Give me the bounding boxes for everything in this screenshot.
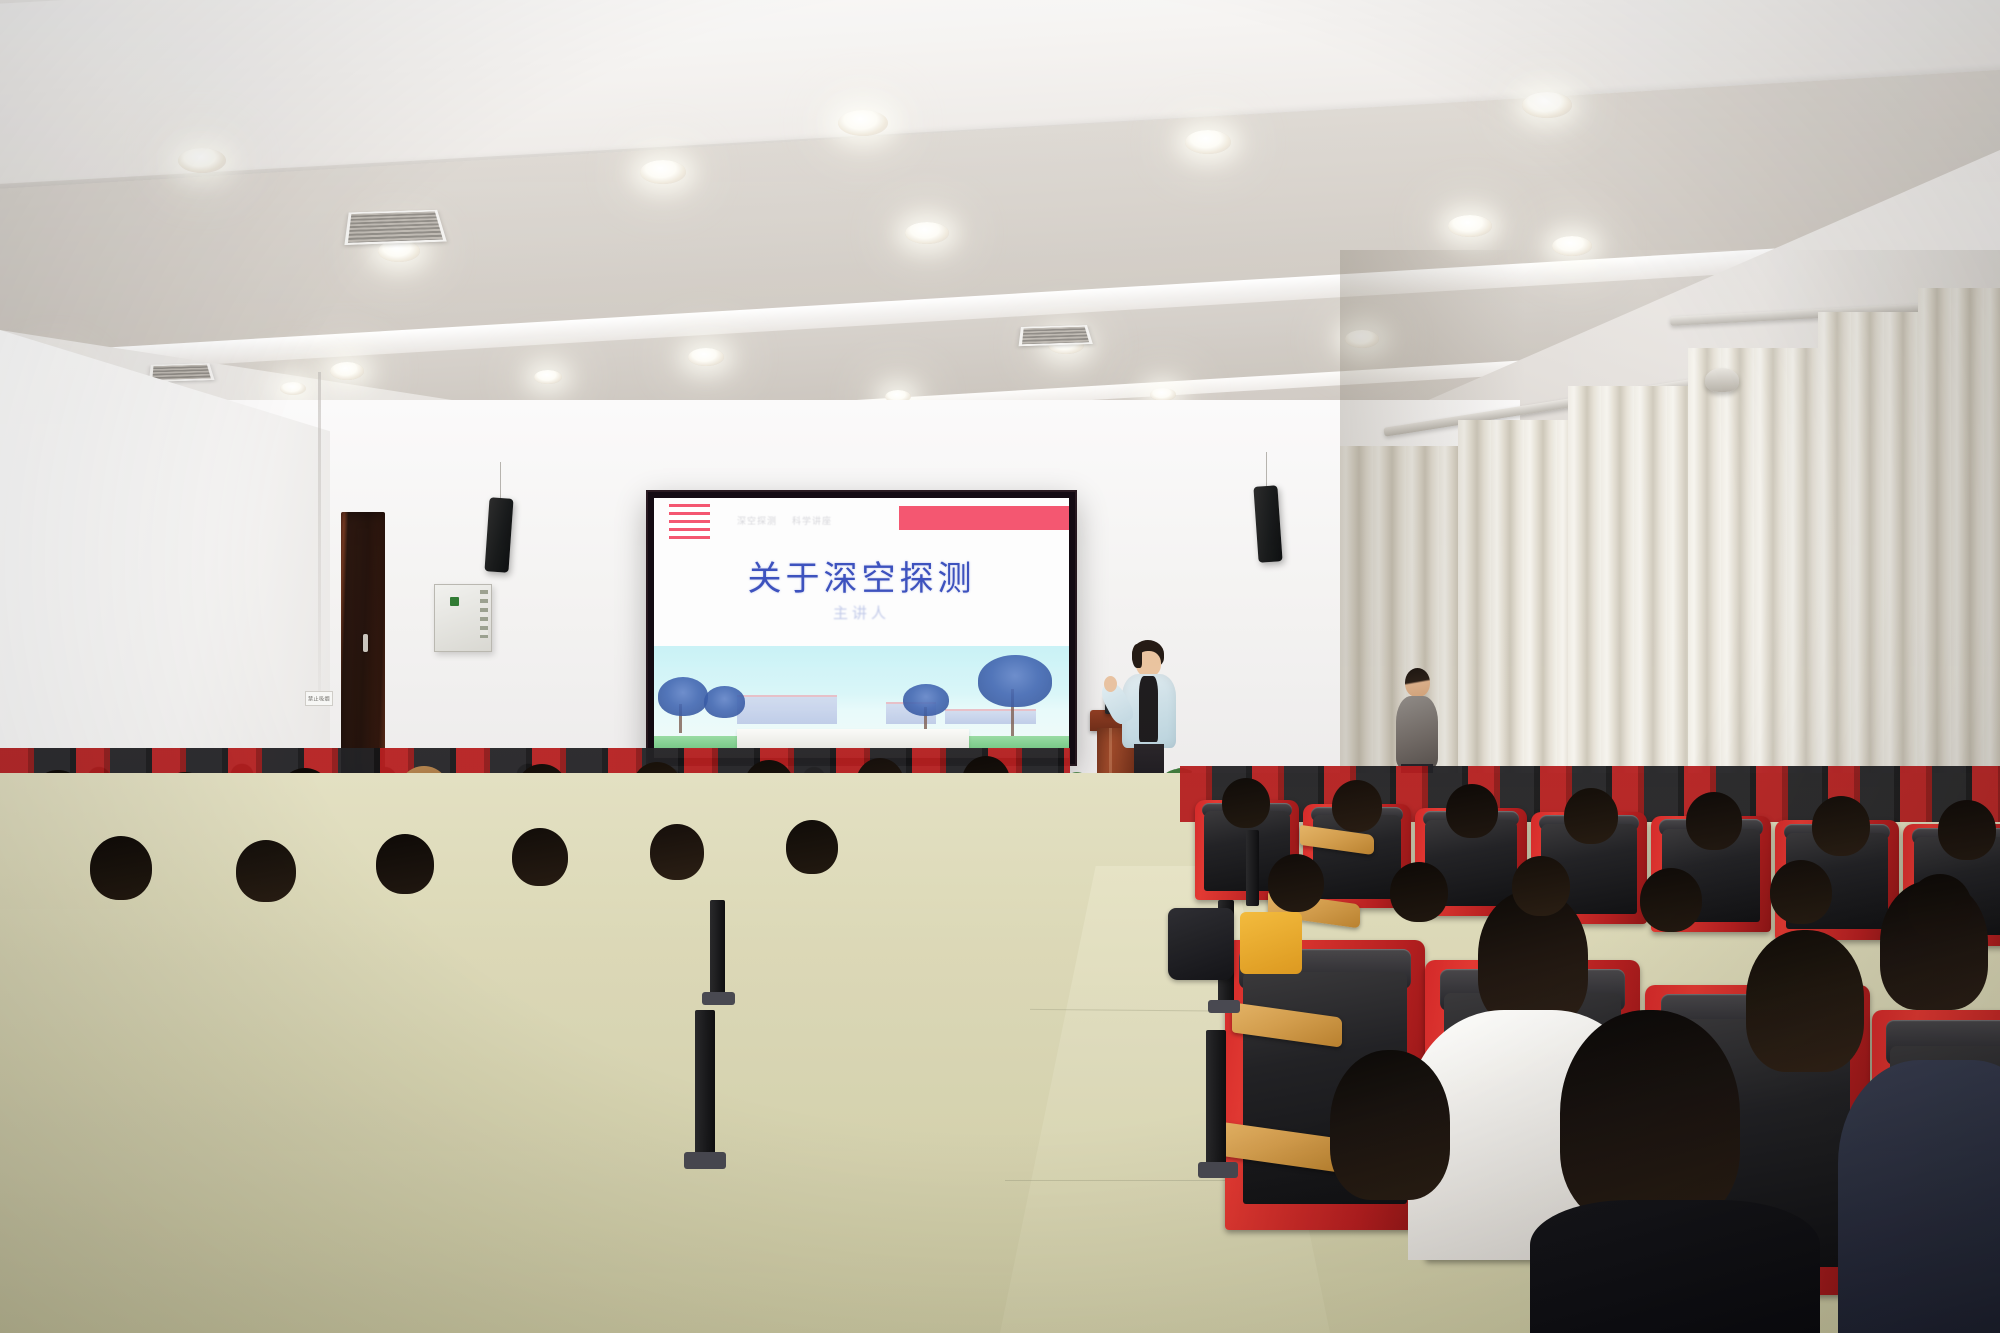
- wall-speaker-left: [484, 497, 513, 572]
- downlight-icon: [330, 362, 364, 380]
- projection-screen: 深空探测 科学讲座 关于深空探测 主讲人: [648, 492, 1075, 764]
- audience-head: [1222, 778, 1270, 828]
- audience-head: [650, 824, 704, 880]
- wall-sign: 禁止吸烟: [305, 691, 333, 706]
- slide-line-motif: [669, 504, 711, 540]
- air-vent-icon: [1019, 325, 1093, 346]
- audience-head: [1390, 862, 1448, 922]
- presenter-hair-back: [1132, 644, 1142, 668]
- slide-photo-tree: [903, 684, 949, 715]
- slide-photo-building: [945, 709, 1036, 725]
- presenter-top: [1139, 676, 1158, 742]
- audience-head: [1564, 788, 1618, 844]
- slide-brand-row: 深空探测 科学讲座: [737, 514, 886, 527]
- audience-head-front: [1330, 1050, 1450, 1200]
- audience-head: [1332, 780, 1382, 832]
- audience-head: [1512, 856, 1570, 916]
- audience-head: [1812, 796, 1870, 856]
- downlight-icon: [178, 148, 226, 173]
- door-handle-icon[interactable]: [363, 634, 368, 652]
- downlight-icon: [640, 160, 686, 184]
- audience-head: [1908, 874, 1972, 940]
- seat-leg: [1246, 830, 1259, 906]
- slide-photo-tree: [978, 655, 1053, 706]
- audience-head: [1770, 860, 1832, 924]
- downlight-icon: [838, 110, 888, 136]
- seat-foot: [1198, 1162, 1238, 1178]
- speaker-wire: [500, 462, 501, 500]
- audience-head: [1686, 792, 1742, 850]
- downlight-icon: [688, 348, 724, 366]
- seat-leg: [1206, 1030, 1226, 1170]
- downlight-icon: [280, 382, 306, 395]
- seat-leg: [695, 1010, 715, 1160]
- speaker-wire: [1266, 452, 1267, 488]
- yellow-garment: [1240, 912, 1302, 974]
- audience-head: [1640, 868, 1702, 932]
- panel-led-icon: [450, 597, 459, 606]
- audience-torso-front: [1838, 1060, 2000, 1333]
- ceiling-dome-speaker-icon: [1705, 368, 1739, 392]
- downlight-icon: [1185, 130, 1231, 154]
- slide-accent-bar: [899, 506, 1069, 530]
- downlight-icon: [1448, 215, 1492, 237]
- slide-photo-building: [737, 695, 837, 724]
- wall-corner: [318, 372, 321, 702]
- attendee-shirt: [1396, 696, 1438, 768]
- downlight-icon: [534, 370, 562, 384]
- seat-foot: [1208, 1000, 1240, 1013]
- audience-head: [512, 828, 568, 886]
- wall-sign-label: 禁止吸烟: [308, 695, 330, 703]
- audience-head: [1268, 854, 1324, 912]
- slide-title: 关于深空探测: [654, 551, 1069, 600]
- slide-subtitle: 主讲人: [654, 602, 1069, 623]
- audience-head: [1938, 800, 1996, 860]
- audience-head: [376, 834, 434, 894]
- seat-foot: [684, 1152, 726, 1169]
- downlight-icon: [1522, 92, 1572, 118]
- auditorium-scene: 禁止吸烟 深空探测 科学讲座 关于深空探测 主讲人: [0, 0, 2000, 1333]
- audience-head-front: [1560, 1010, 1740, 1225]
- attendee-head: [1405, 668, 1430, 697]
- slide-photo-tree: [658, 677, 708, 715]
- slide-brand-right: 科学讲座: [792, 514, 832, 527]
- audience-head: [1446, 784, 1498, 838]
- downlight-icon: [905, 222, 949, 244]
- audience-head: [90, 836, 152, 900]
- audience-head-front: [1746, 930, 1864, 1072]
- slide: 深空探测 科学讲座 关于深空探测 主讲人: [654, 498, 1069, 758]
- electrical-panel[interactable]: [434, 584, 492, 652]
- slide-brand-left: 深空探测: [737, 514, 777, 527]
- slide-photo-tree: [704, 686, 746, 717]
- audience-head: [236, 840, 296, 902]
- seat-foot: [702, 992, 735, 1005]
- seat-leg: [710, 900, 725, 1000]
- slide-header-area: 深空探测 科学讲座 关于深空探测 主讲人: [654, 498, 1069, 646]
- audience-head: [786, 820, 838, 874]
- presenter-hand: [1104, 676, 1117, 692]
- backpack[interactable]: [1168, 908, 1234, 980]
- audience-torso-front: [1530, 1200, 1820, 1333]
- air-vent-icon: [344, 210, 446, 245]
